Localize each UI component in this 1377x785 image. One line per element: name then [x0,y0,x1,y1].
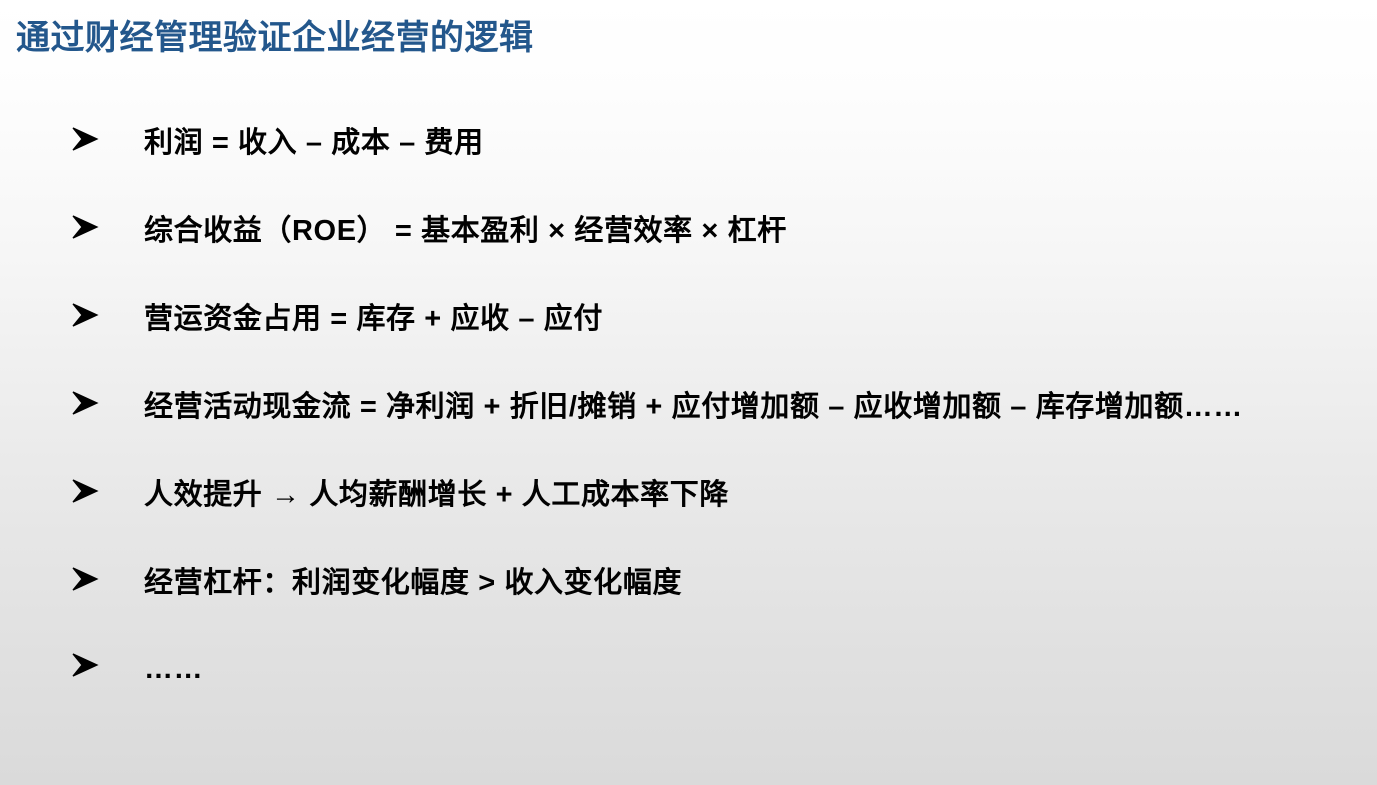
arrowhead-bullet-icon [70,284,144,328]
arrowhead-bullet-icon [70,548,144,592]
arrowhead-bullet-icon [70,372,144,416]
list-item: 人效提升 → 人均薪酬增长 + 人工成本率下降 [0,460,1377,530]
list-item-label: …… [144,634,1264,704]
bullet-list: 利润 = 收入 – 成本 – 费用 综合收益（ROE） = 基本盈利 × 经营效… [0,108,1377,704]
list-item: 经营杠杆：利润变化幅度 > 收入变化幅度 [0,548,1377,618]
list-item-label: 人效提升 → 人均薪酬增长 + 人工成本率下降 [144,460,1264,530]
list-item: 经营活动现金流 = 净利润 + 折旧/摊销 + 应付增加额 – 应收增加额 – … [0,372,1377,442]
list-item: 综合收益（ROE） = 基本盈利 × 经营效率 × 杠杆 [0,196,1377,266]
list-item-label: 综合收益（ROE） = 基本盈利 × 经营效率 × 杠杆 [144,196,1264,266]
arrowhead-bullet-icon [70,108,144,152]
list-item-label: 经营活动现金流 = 净利润 + 折旧/摊销 + 应付增加额 – 应收增加额 – … [144,372,1264,442]
list-item-label: 经营杠杆：利润变化幅度 > 收入变化幅度 [144,548,1264,618]
arrowhead-bullet-icon [70,634,144,678]
list-item: …… [0,634,1377,704]
slide-canvas: 通过财经管理验证企业经营的逻辑 利润 = 收入 – 成本 – 费用 综合收益（R… [0,0,1377,785]
arrowhead-bullet-icon [70,196,144,240]
arrowhead-bullet-icon [70,460,144,504]
list-item-label: 利润 = 收入 – 成本 – 费用 [144,108,1264,178]
list-item-label: 营运资金占用 = 库存 + 应收 – 应付 [144,284,1264,354]
page-title: 通过财经管理验证企业经营的逻辑 [16,16,534,60]
list-item: 营运资金占用 = 库存 + 应收 – 应付 [0,284,1377,354]
list-item: 利润 = 收入 – 成本 – 费用 [0,108,1377,178]
